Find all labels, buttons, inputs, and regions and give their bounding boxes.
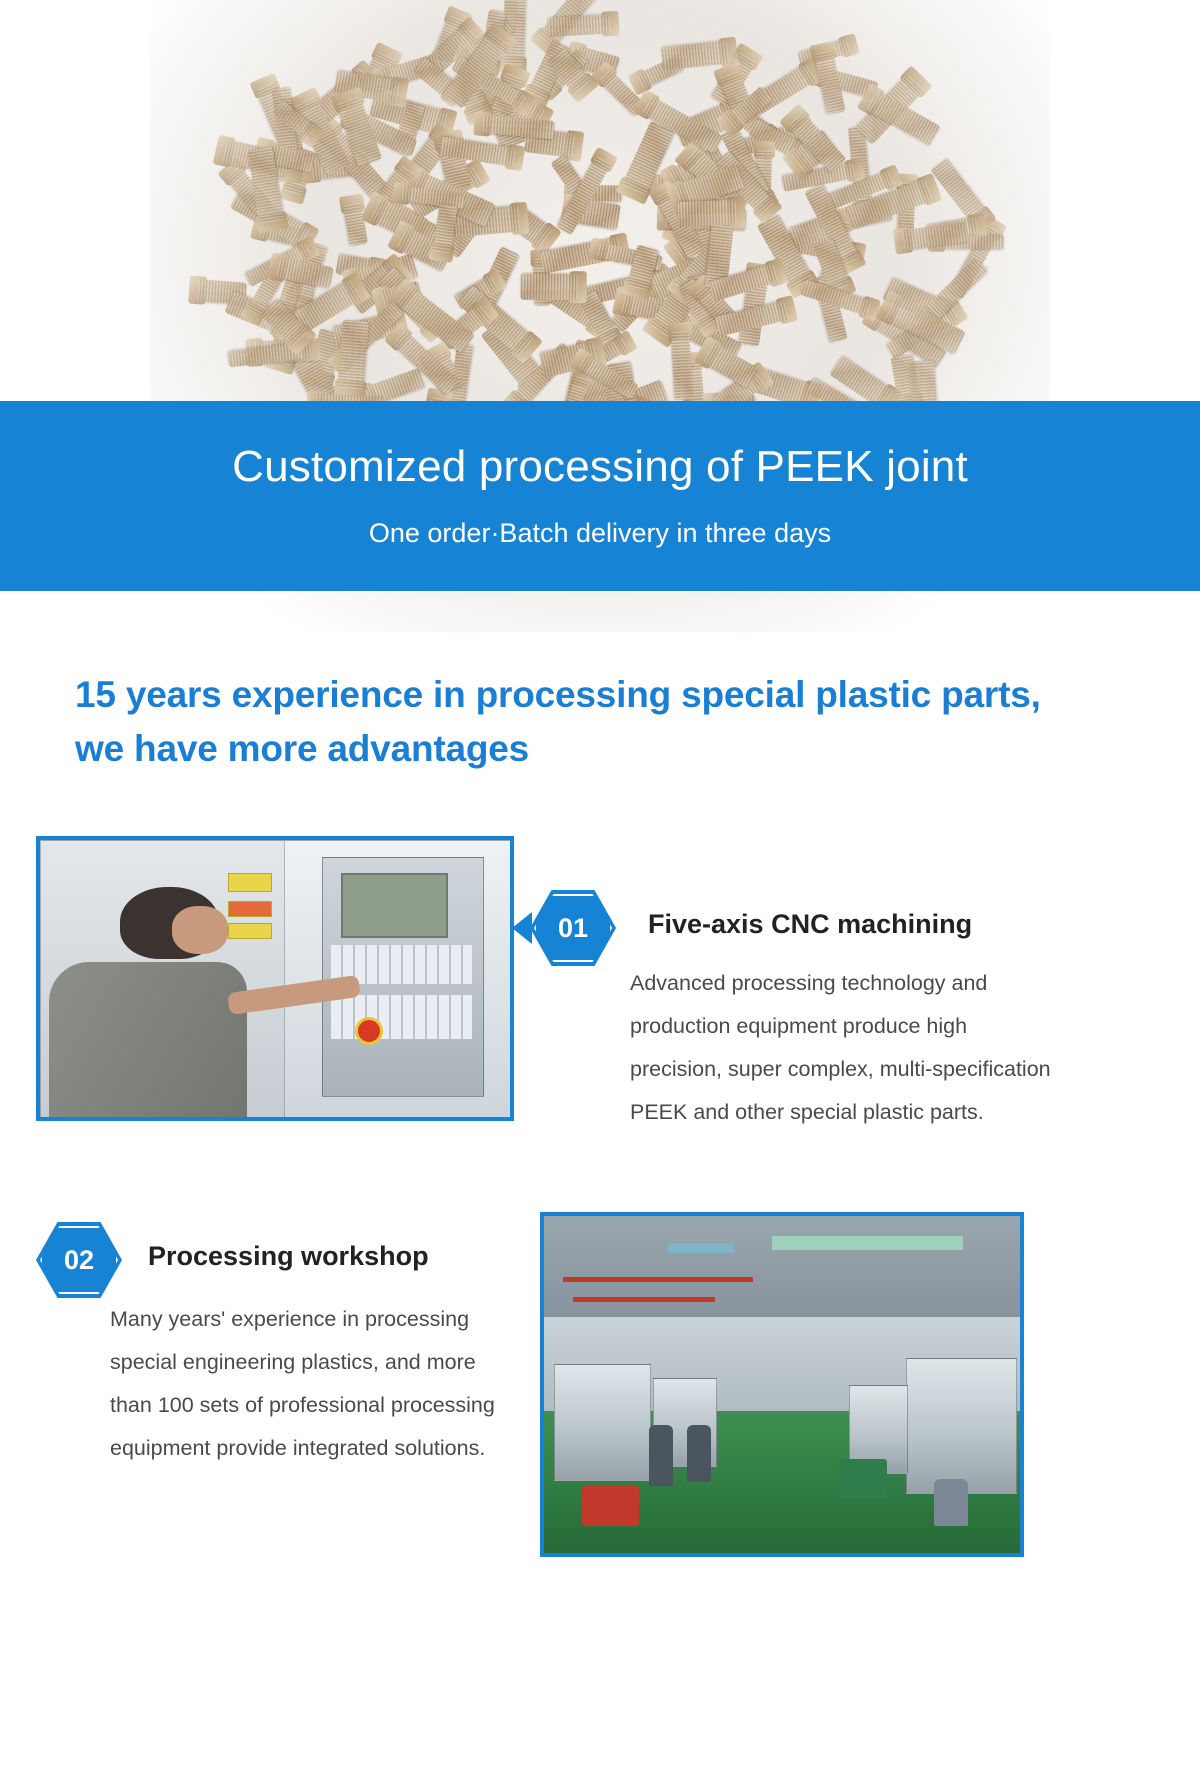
peek-fitting-hex-head <box>727 197 745 228</box>
peek-fitting <box>547 14 610 37</box>
peek-fitting <box>521 273 578 299</box>
peek-fitting-hex-head <box>601 10 619 36</box>
peek-fitting <box>661 41 729 71</box>
peek-fitting-hex-head <box>844 158 865 183</box>
cnc-operator-control-panel-photo <box>36 836 514 1121</box>
section-02-title: Processing workshop <box>148 1241 548 1272</box>
peek-fitting-hex-head <box>754 141 776 158</box>
peek-fitting-hex-head <box>212 134 235 167</box>
peek-fitting <box>677 200 736 227</box>
peek-fitting-hex-head <box>473 111 492 137</box>
peek-fitting <box>337 320 368 390</box>
peek-fitting-hex-head <box>838 32 860 57</box>
peek-fitting-hex-head <box>564 130 585 162</box>
peek-fitting <box>672 331 693 400</box>
peek-fitting-hex-head <box>392 182 412 205</box>
section-badge-01-number: 01 <box>534 894 612 962</box>
section-02-body: Many years' experience in processing spe… <box>110 1298 510 1470</box>
peek-fitting-hex-head <box>279 182 307 205</box>
peek-fitting-hex-head <box>893 227 913 255</box>
section-badge-02: 02 <box>36 1222 122 1298</box>
peek-fitting-hex-head <box>587 237 608 262</box>
hero-banner: Customized processing of PEEK joint One … <box>0 0 1200 632</box>
page-headline: 15 years experience in processing specia… <box>75 668 1075 775</box>
peek-fitting-hex-head <box>899 65 933 98</box>
section-badge-02-number: 02 <box>40 1226 118 1294</box>
processing-workshop-photo <box>540 1212 1024 1557</box>
peek-fitting-hex-head <box>967 213 988 238</box>
badge-pointer-01 <box>512 912 532 944</box>
peek-fitting-hex-head <box>719 37 739 68</box>
peek-fitting-hex-head <box>505 143 526 171</box>
peek-fitting-hex-head <box>668 322 693 340</box>
hero-subtitle: One order·Batch delivery in three days <box>0 518 1200 549</box>
peek-fitting-hex-head <box>188 276 207 305</box>
section-01-body: Advanced processing technology and produ… <box>630 962 1060 1134</box>
section-01-title: Five-axis CNC machining <box>648 909 1168 940</box>
hero-title: Customized processing of PEEK joint <box>0 443 1200 491</box>
peek-fitting-hex-head <box>510 202 530 235</box>
peek-fitting-hex-head <box>809 41 837 63</box>
peek-fitting-hex-head <box>338 193 365 214</box>
peek-fitting-hex-head <box>590 147 619 173</box>
section-badge-01: 01 <box>530 890 616 966</box>
peek-fitting-hex-head <box>775 294 798 324</box>
peek-fitting-hex-head <box>267 252 289 282</box>
peek-fitting <box>343 203 368 246</box>
peek-fitting-hex-head <box>570 271 587 303</box>
hero-title-band <box>0 401 1200 591</box>
